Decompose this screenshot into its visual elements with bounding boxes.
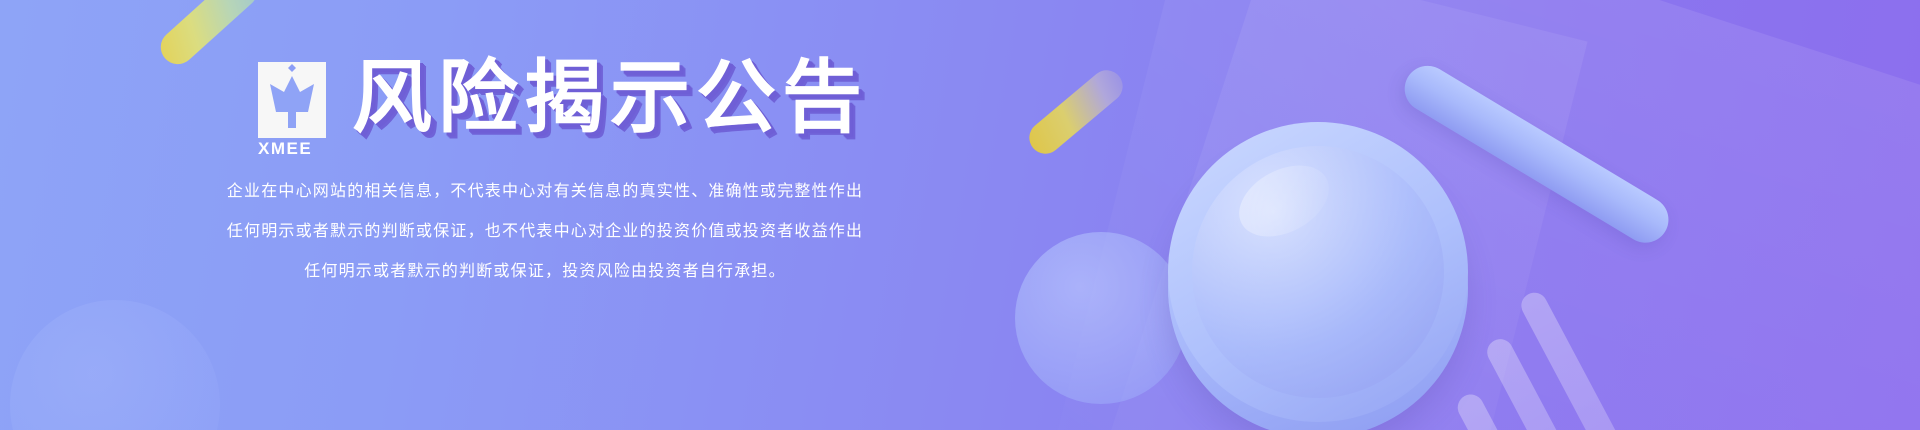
- disclaimer-line: 企业在中心网站的相关信息，不代表中心对有关信息的真实性、准确性或完整性作出: [0, 172, 1090, 212]
- yellow-capsule-icon: [1023, 64, 1129, 161]
- angled-light-wedge-secondary: [1030, 0, 1588, 430]
- magnifier-lens: [1192, 146, 1444, 398]
- magnifying-glass-icon: [1150, 60, 1670, 430]
- brand-wordmark: XMEE: [258, 140, 338, 157]
- disclaimer-text: 企业在中心网站的相关信息，不代表中心对有关信息的真实性、准确性或完整性作出 任何…: [0, 172, 1090, 292]
- xmee-crown-logo-icon: [258, 62, 326, 138]
- magnifier-ring-base: [1168, 138, 1468, 430]
- angled-light-wedge: [1074, 0, 1920, 430]
- diagonal-light-bars-icon: [1245, 165, 1920, 430]
- brand-logo: XMEE: [258, 62, 338, 157]
- magnifier-ring-rim: [1168, 122, 1468, 422]
- magnifier-handle: [1396, 57, 1677, 251]
- disclaimer-line: 任何明示或者默示的判断或保证，投资风险由投资者自行承担。: [0, 252, 1090, 292]
- page-title: 风险揭示公告: [352, 58, 868, 138]
- magnifier-glint: [1227, 151, 1341, 251]
- risk-disclosure-banner: XMEE 风险揭示公告 企业在中心网站的相关信息，不代表中心对有关信息的真实性、…: [0, 0, 1920, 430]
- banner-content: XMEE 风险揭示公告 企业在中心网站的相关信息，不代表中心对有关信息的真实性、…: [0, 0, 900, 430]
- disclaimer-line: 任何明示或者默示的判断或保证，也不代表中心对企业的投资价值或投资者收益作出: [0, 212, 1090, 252]
